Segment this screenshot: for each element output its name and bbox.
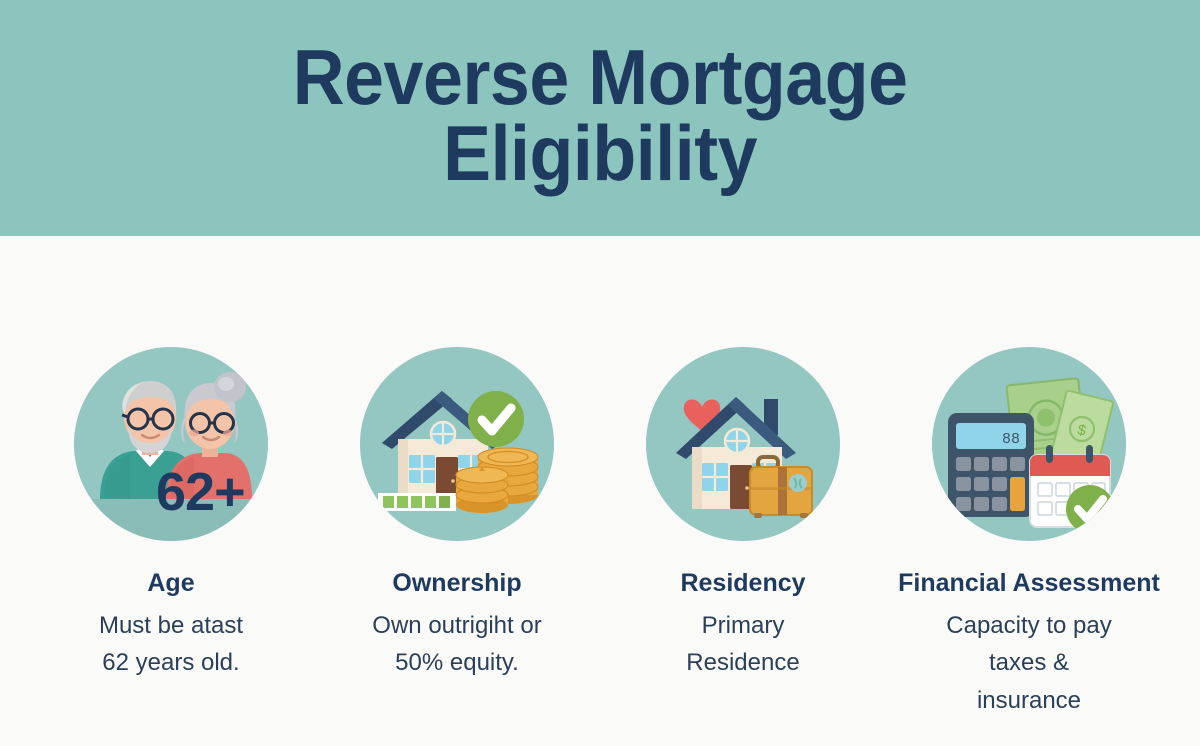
column-title-age: Age [147,570,194,598]
icon-circle-age: 62+ [74,347,268,541]
page-title-line-1: Reverse Mortgage [293,33,908,121]
desc-line: taxes & [946,644,1111,682]
page-header: Reverse Mortgage Eligibility [0,0,1200,236]
page-title: Reverse Mortgage Eligibility [293,39,908,198]
desc-line: Residence [686,644,799,682]
desc-line: Primary [686,607,799,645]
house-with-heart-suitcase-icon [646,347,840,541]
eligibility-column-residency: Residency Primary Residence [600,236,886,682]
eligibility-column-financial-assessment: $ 88 [886,236,1172,720]
eligibility-columns: 62+ Age Must be atast 62 years old. [0,236,1200,746]
desc-line: 50% equity. [372,644,541,682]
icon-circle-ownership [360,347,554,541]
desc-line: 62 years old. [99,644,243,682]
icon-circle-financial-assessment: $ 88 [932,347,1126,541]
desc-line: insurance [946,682,1111,720]
column-description-residency: Primary Residence [686,607,799,683]
column-title-financial-assessment: Financial Assessment [898,570,1160,598]
column-description-age: Must be atast 62 years old. [99,607,243,683]
desc-line: Capacity to pay [946,607,1111,645]
column-description-ownership: Own outrigiht or 50% equity. [372,607,541,683]
column-description-financial-assessment: Capacity to pay taxes & insurance [946,607,1111,721]
column-title-residency: Residency [680,570,805,598]
calculator-money-calendar-icon: $ 88 [932,347,1126,541]
age-badge-62plus: 62+ [156,465,245,519]
svg-text:88: 88 [1002,431,1020,448]
page-title-line-2: Eligibility [293,115,908,191]
house-with-coins-check-icon [360,347,554,541]
eligibility-column-ownership: Ownership Own outrigiht or 50% equity. [314,236,600,682]
desc-line: Own outrigiht or [372,607,541,645]
column-title-ownership: Ownership [392,570,521,598]
icon-circle-residency [646,347,840,541]
eligibility-column-age: 62+ Age Must be atast 62 years old. [28,236,314,682]
desc-line: Must be atast [99,607,243,645]
